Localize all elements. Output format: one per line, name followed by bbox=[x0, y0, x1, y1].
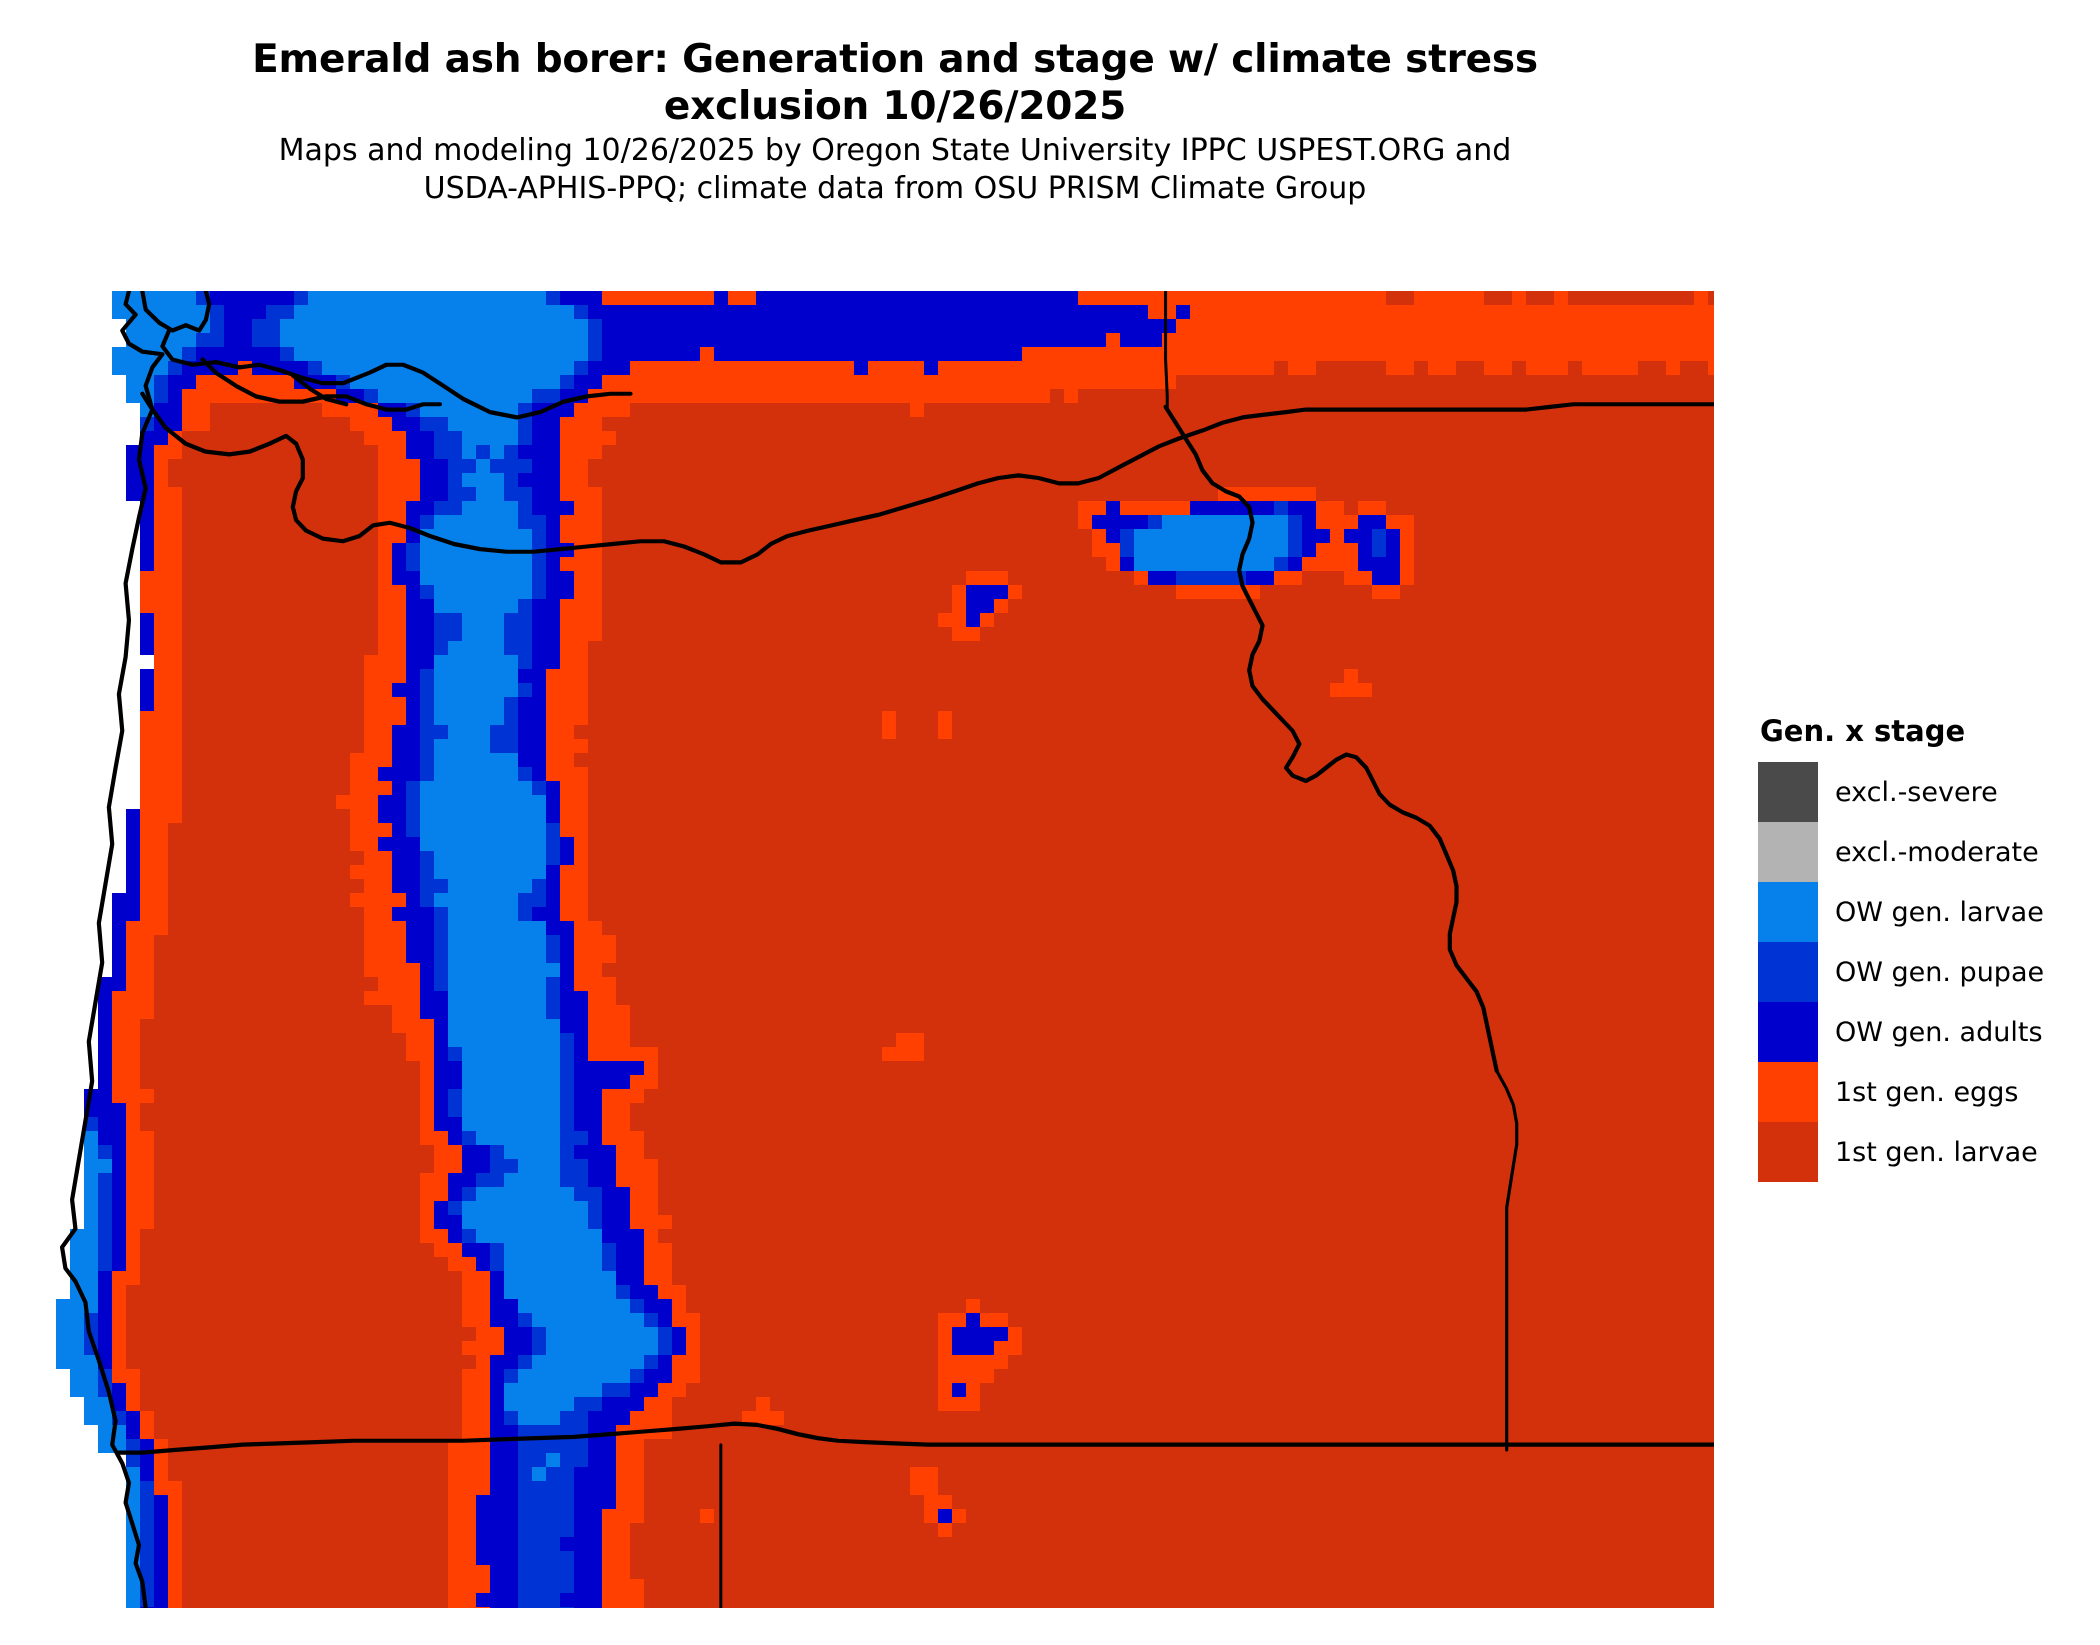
legend-label: 1st gen. larvae bbox=[1835, 1137, 2038, 1168]
raster-map bbox=[42, 291, 1714, 1608]
legend-title: Gen. x stage bbox=[1760, 714, 2088, 748]
legend-swatch bbox=[1758, 822, 1818, 882]
figure-subtitle: Maps and modeling 10/26/2025 by Oregon S… bbox=[0, 132, 1790, 208]
legend-swatch bbox=[1758, 762, 1818, 822]
legend-row: excl.-moderate bbox=[1758, 822, 2088, 882]
figure-title: Emerald ash borer: Generation and stage … bbox=[0, 36, 1790, 130]
subtitle-line-1: Maps and modeling 10/26/2025 by Oregon S… bbox=[0, 132, 1790, 170]
legend-row: OW gen. adults bbox=[1758, 1002, 2088, 1062]
legend-label: excl.-moderate bbox=[1835, 837, 2039, 868]
legend-row: 1st gen. larvae bbox=[1758, 1122, 2088, 1182]
legend-swatch bbox=[1758, 942, 1818, 1002]
legend-swatch bbox=[1758, 1062, 1818, 1122]
legend-swatch bbox=[1758, 1002, 1818, 1062]
legend-label: OW gen. adults bbox=[1835, 1017, 2043, 1048]
map-canvas bbox=[42, 291, 1714, 1608]
legend-items: excl.-severeexcl.-moderateOW gen. larvae… bbox=[1758, 762, 2088, 1182]
legend-swatch bbox=[1758, 882, 1818, 942]
legend-row: excl.-severe bbox=[1758, 762, 2088, 822]
legend-row: 1st gen. eggs bbox=[1758, 1062, 2088, 1122]
subtitle-line-2: USDA-APHIS-PPQ; climate data from OSU PR… bbox=[0, 170, 1790, 208]
legend-row: OW gen. pupae bbox=[1758, 942, 2088, 1002]
legend-swatch bbox=[1758, 1122, 1818, 1182]
legend-row: OW gen. larvae bbox=[1758, 882, 2088, 942]
legend-label: excl.-severe bbox=[1835, 777, 1998, 808]
figure-page: Emerald ash borer: Generation and stage … bbox=[0, 0, 2100, 1645]
legend-label: 1st gen. eggs bbox=[1835, 1077, 2018, 1108]
legend-label: OW gen. pupae bbox=[1835, 957, 2044, 988]
legend-label: OW gen. larvae bbox=[1835, 897, 2044, 928]
title-line-2: exclusion 10/26/2025 bbox=[0, 83, 1790, 130]
title-line-1: Emerald ash borer: Generation and stage … bbox=[0, 36, 1790, 83]
legend: Gen. x stage excl.-severeexcl.-moderateO… bbox=[1758, 714, 2088, 1182]
